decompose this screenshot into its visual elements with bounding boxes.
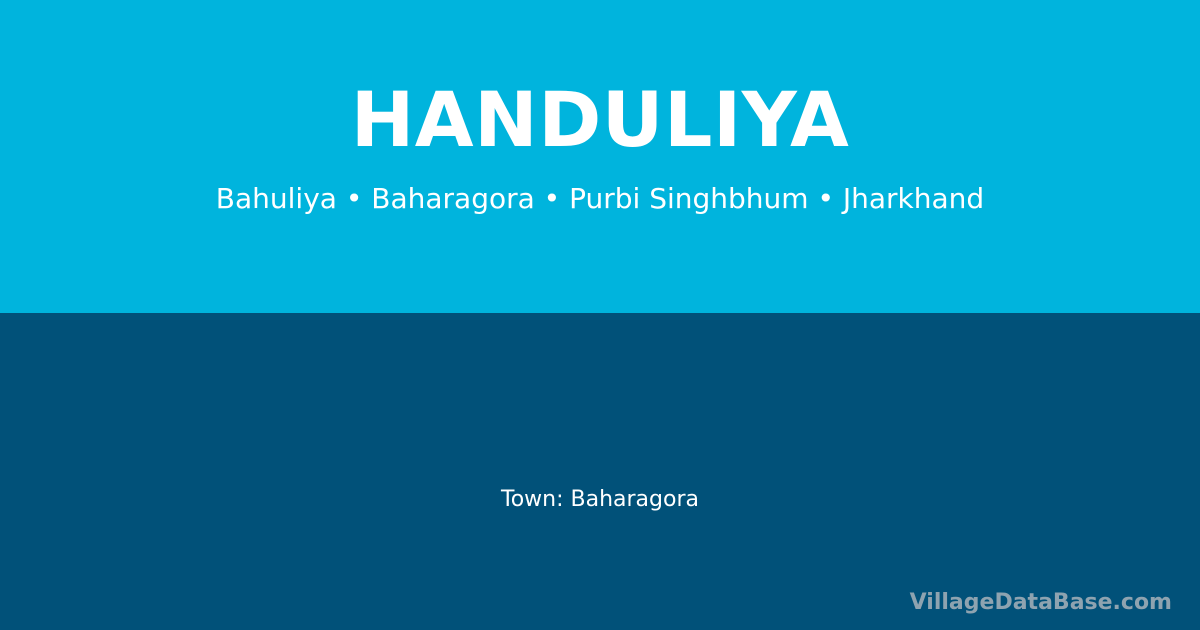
hero-banner: HANDULIYA Bahuliya • Baharagora • Purbi … bbox=[0, 0, 1200, 313]
page-title: HANDULIYA bbox=[351, 0, 850, 158]
details-panel: Town: Baharagora VillageDataBase.com bbox=[0, 313, 1200, 630]
village-info-card: HANDULIYA Bahuliya • Baharagora • Purbi … bbox=[0, 0, 1200, 630]
location-breadcrumb: Bahuliya • Baharagora • Purbi Singhbhum … bbox=[216, 158, 984, 216]
town-detail: Town: Baharagora bbox=[0, 487, 1200, 513]
site-watermark: VillageDataBase.com bbox=[910, 590, 1172, 616]
